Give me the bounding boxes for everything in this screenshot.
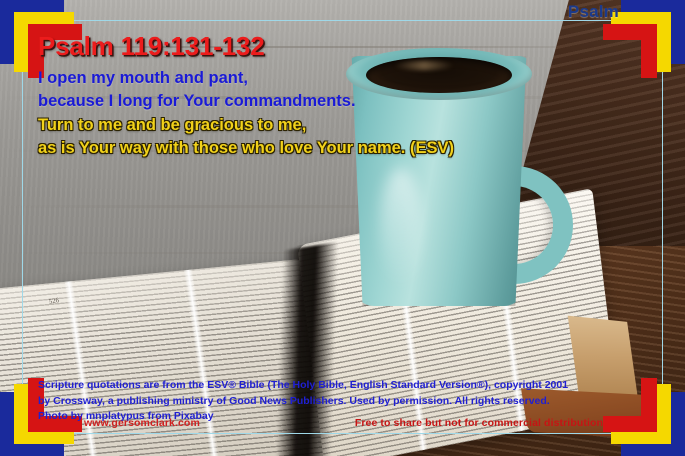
corner-bar-red-horizontal [603,24,657,40]
verse-line: as is Your way with those who love Your … [38,137,454,160]
bible-page-number: 526 [48,296,60,305]
usage-notice: Free to share but not for commercial dis… [355,417,603,429]
scripture-reference-title: Psalm 119:131-132 [38,31,264,62]
website-url[interactable]: www.gersomclark.com [84,417,200,429]
verse-line: because I long for Your commandments. [38,90,356,113]
credit-line: by Crossway, a publishing ministry of Go… [38,394,568,410]
verse-text-gold: Turn to me and be gracious to me, as is … [38,114,454,160]
verse-line: Turn to me and be gracious to me, [38,114,454,137]
credit-line: Scripture quotations are from the ESV® B… [38,378,568,394]
mug-highlight [380,168,422,288]
coffee-reflection [394,61,454,70]
verse-text-blue: I open my mouth and pant, because I long… [38,67,356,113]
verse-line: I open my mouth and pant, [38,67,356,90]
footer-bar: www.gersomclark.com Free to share but no… [22,412,663,434]
coffee-mug [332,48,572,313]
bible-book-label: Psalm [568,2,619,22]
scripture-image-card: 526 1 KINGS 22 [0,0,685,456]
